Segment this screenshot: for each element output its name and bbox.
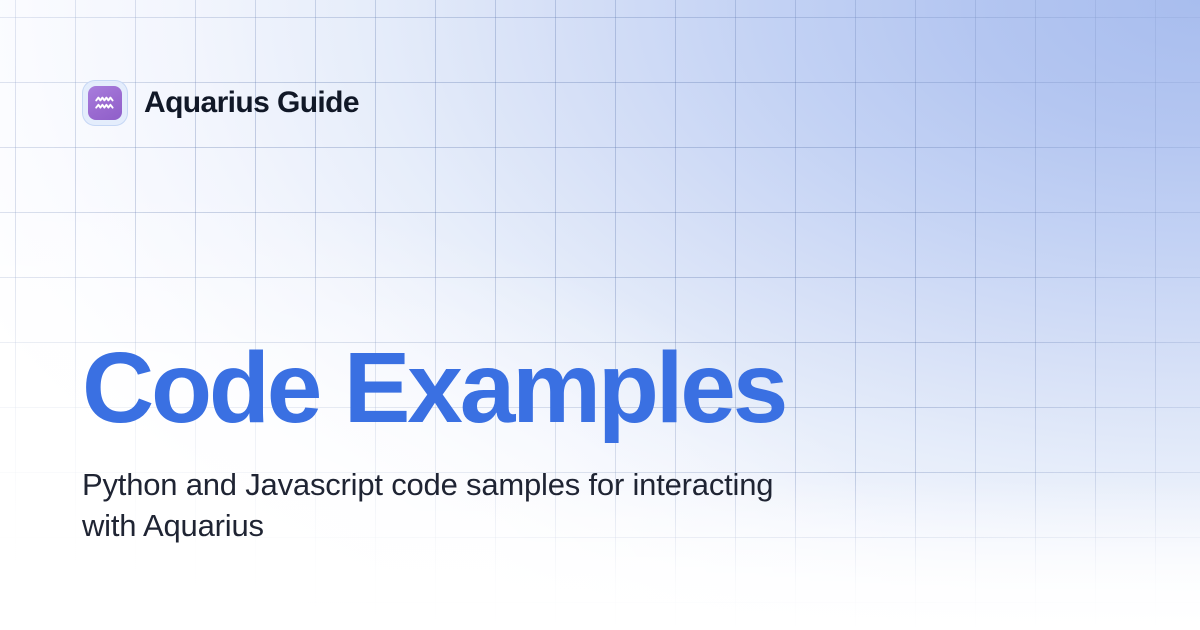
hero-text-block: Code Examples Python and Javascript code… [82, 338, 1082, 546]
brand-lockup: Aquarius Guide [82, 80, 359, 126]
brand-name: Aquarius Guide [144, 88, 359, 118]
logo-frame [82, 80, 128, 126]
aquarius-zodiac-icon [93, 91, 117, 115]
card-content: Aquarius Guide Code Examples Python and … [0, 0, 1200, 630]
page-subtitle: Python and Javascript code samples for i… [82, 464, 782, 546]
og-card: Aquarius Guide Code Examples Python and … [0, 0, 1200, 630]
logo-tile [88, 86, 122, 120]
page-title: Code Examples [82, 338, 1082, 438]
